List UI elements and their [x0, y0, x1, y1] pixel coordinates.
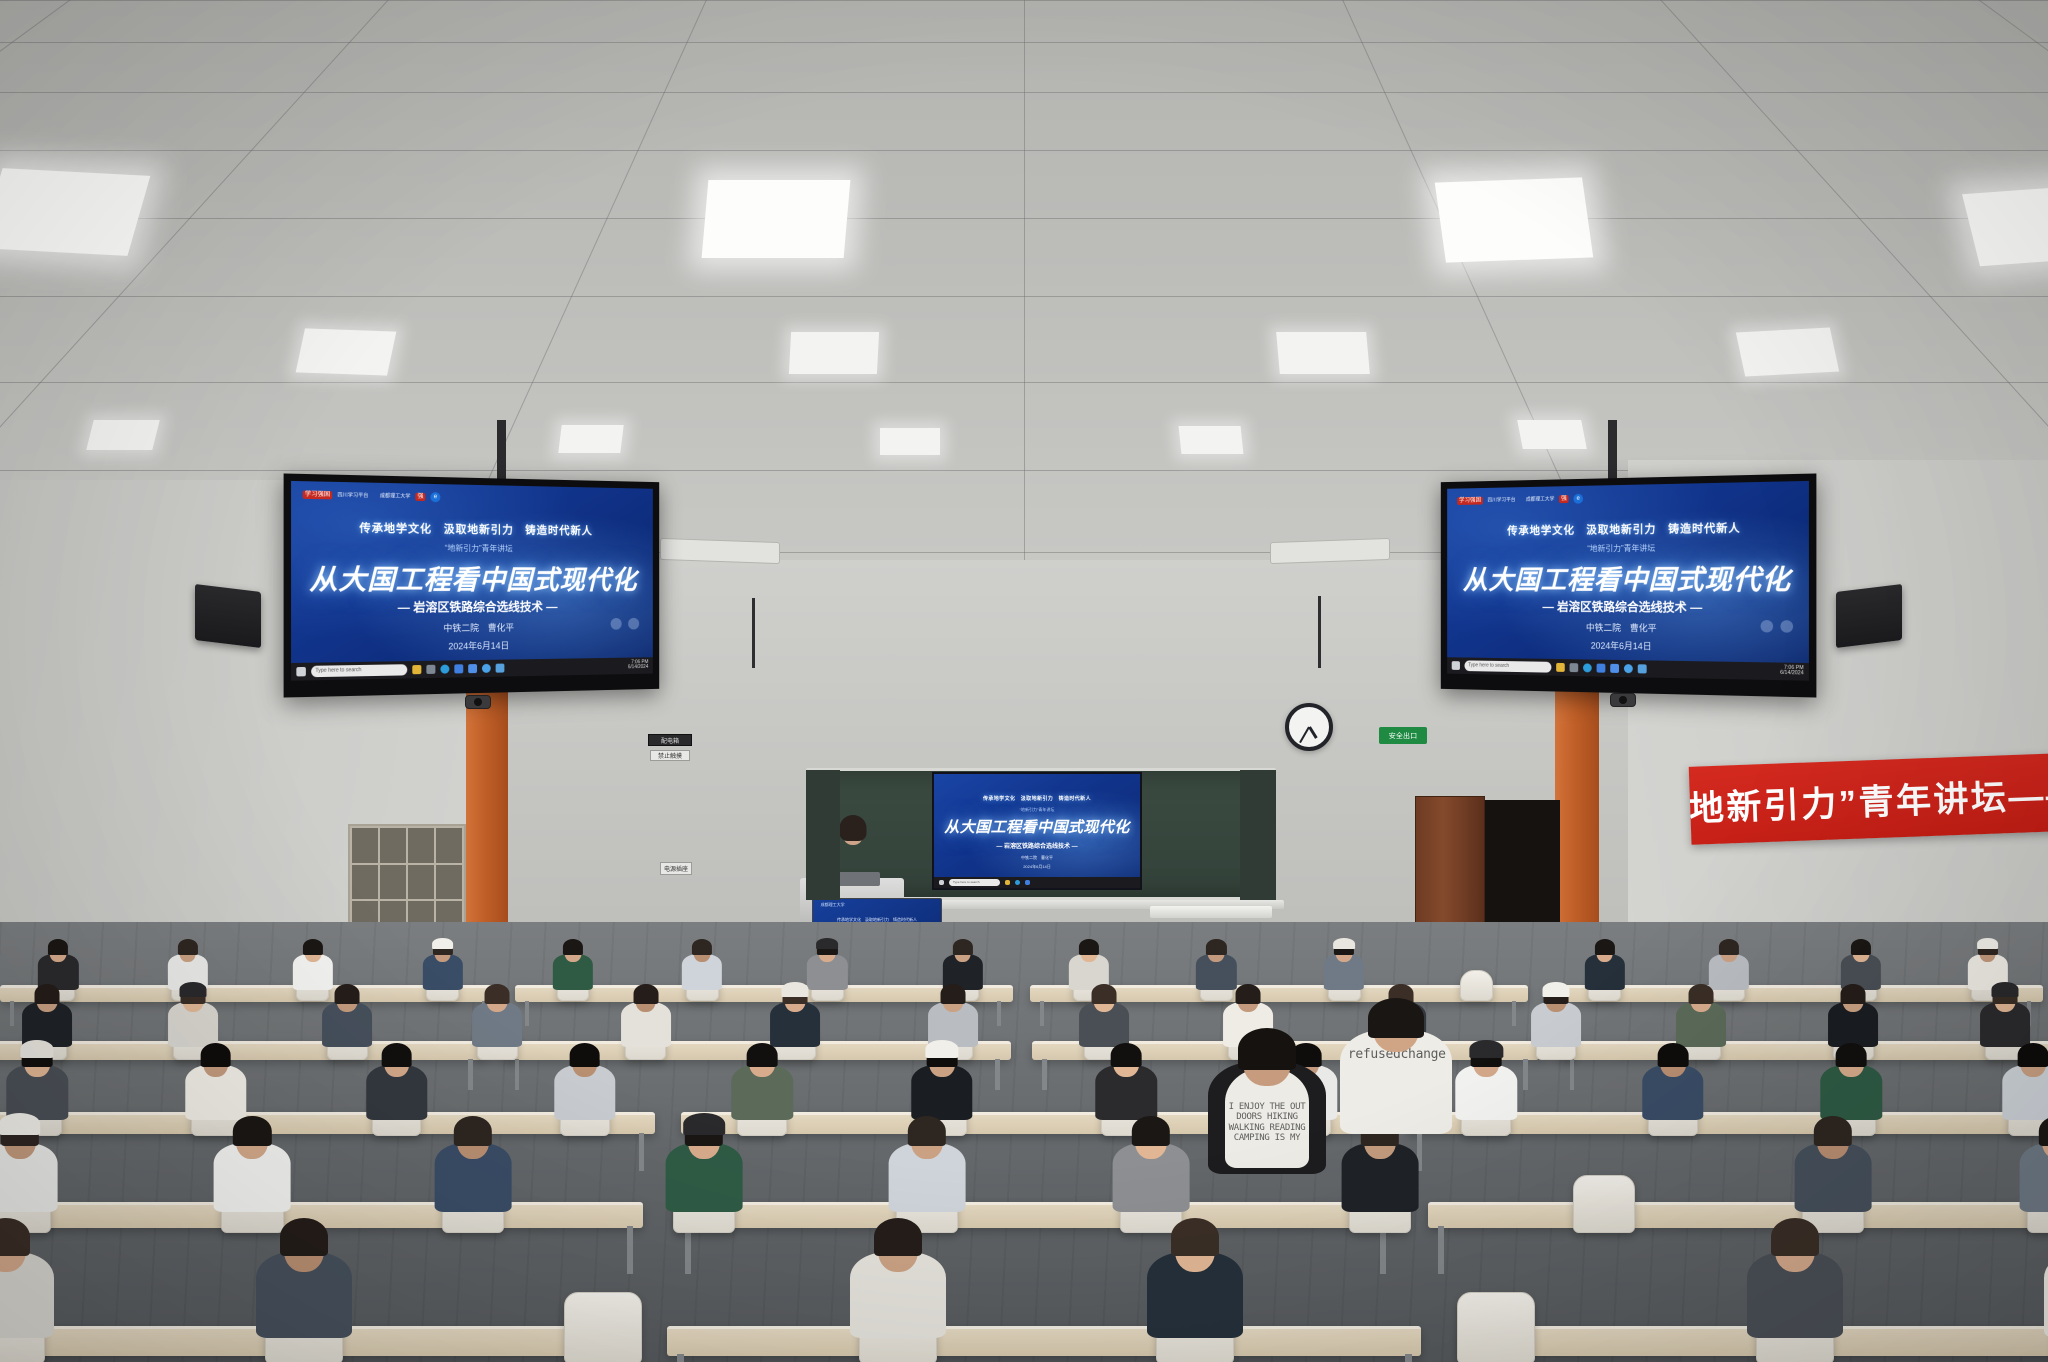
- student-torso: [2044, 1252, 2048, 1338]
- audience-student-graphic-tee: refusedchange: [1340, 1000, 1452, 1140]
- ceiling-light-panel: [1435, 177, 1594, 262]
- slide-forum-name: “地新引力”青年讲坛: [934, 807, 1140, 813]
- windows-start-icon[interactable]: [296, 667, 306, 677]
- cubby-cell: [380, 828, 406, 863]
- student-hair: [303, 939, 323, 955]
- app-icon-mail[interactable]: [1624, 664, 1633, 673]
- student-hair: [563, 939, 583, 955]
- student-hair: [233, 1116, 271, 1146]
- app-icon-explorer[interactable]: [1556, 663, 1565, 672]
- wall-notice-board: [806, 770, 840, 900]
- student-hair: [1719, 939, 1739, 955]
- slide-date: 2024年6月14日: [934, 864, 1140, 870]
- ceiling-light-panel: [1736, 328, 1839, 377]
- desk-leg: [1040, 1001, 1044, 1026]
- baseball-cap-icon: [925, 1040, 958, 1058]
- hanging-microphone: [752, 598, 755, 668]
- app-badge-red: 强: [1559, 495, 1569, 503]
- red-event-banner: “地新引力”青年讲坛——: [1689, 753, 2048, 845]
- audience-student: [621, 981, 671, 1052]
- whiteboard-tray: [1150, 906, 1272, 918]
- xuexi-qiangguo-logo: 学习强国: [303, 490, 332, 499]
- ceiling-grid-line: [0, 150, 2048, 151]
- student-hair: [2039, 1116, 2048, 1146]
- student-hair: [1771, 1218, 1819, 1256]
- student-desk: [1560, 1041, 2048, 1060]
- student-hair: [1368, 998, 1424, 1038]
- baseball-cap-icon: [0, 1113, 40, 1135]
- desk-leg: [515, 1059, 520, 1090]
- ceiling-light-panel: [1276, 332, 1370, 374]
- taskbar-clock[interactable]: 7:06 PM 6/14/2024: [1780, 666, 1803, 678]
- desk-leg: [1405, 1354, 1412, 1362]
- slide-logo-bar: 学习强国 四川学习平台 成都理工大学 强 e: [303, 489, 643, 505]
- right-tv-screen: 学习强国 四川学习平台 成都理工大学 强 e 传承地学文化 汲取地新引力 铸造时…: [1447, 481, 1809, 681]
- student-hair: [1836, 1043, 1867, 1067]
- audience-student: [1456, 1039, 1517, 1126]
- baseball-cap-icon: [1333, 938, 1355, 950]
- student-hair: [908, 1116, 946, 1146]
- student-hair: [747, 1043, 778, 1067]
- student-hair: [1171, 1218, 1219, 1256]
- tee-printed-text: I ENJOY THE OUT DOORS HIKING WALKING REA…: [1216, 1102, 1317, 1143]
- app-icon-taskview[interactable]: [426, 665, 435, 674]
- student-hair: [0, 1218, 30, 1256]
- student-hair: [34, 984, 59, 1004]
- ceiling-grid-line: [1024, 0, 1025, 620]
- taskbar-search-box[interactable]: Type here to search: [311, 664, 407, 677]
- audience-student: [666, 1111, 743, 1220]
- ceiling-light-panel: [558, 425, 623, 453]
- taskbar-search-box[interactable]: Type here to search: [1465, 660, 1552, 672]
- student-hair: [1595, 939, 1615, 955]
- student-hair: [1092, 984, 1117, 1004]
- app-icon-wechat[interactable]: [1025, 880, 1030, 885]
- presenter-hair: [840, 815, 867, 841]
- desk-leg: [1380, 1226, 1386, 1274]
- student-hair: [1658, 1043, 1689, 1067]
- audience-student: [1112, 1111, 1189, 1220]
- student-hair: [633, 984, 658, 1004]
- audience-student: [1324, 937, 1364, 994]
- desk-leg: [1438, 1226, 1444, 1274]
- student-hair: [48, 939, 68, 955]
- ceiling-grid-line: [0, 382, 2048, 383]
- audience-student: [0, 1111, 58, 1220]
- windows-start-icon[interactable]: [1452, 661, 1460, 670]
- lecture-hall-photo: 学习强国 四川学习平台 成都理工大学 强 e 传承地学文化 汲取地新引力 铸造时…: [0, 0, 2048, 1362]
- ceiling-grid-line: [0, 0, 2048, 1]
- student-chair: [1457, 1292, 1535, 1362]
- app-icon-edge[interactable]: [1583, 663, 1592, 672]
- sichuan-platform-label: 四川学习平台: [1488, 496, 1516, 503]
- baseball-cap-icon: [1992, 982, 2019, 996]
- taskbar-search-box[interactable]: Type here to search: [949, 879, 1000, 886]
- audience-student: [435, 1111, 512, 1220]
- audience-student: [322, 981, 372, 1052]
- wall-notice-board: [1240, 770, 1276, 900]
- baseball-cap-icon: [1543, 982, 1570, 996]
- slide-tagline: 传承地学文化 汲取地新引力 铸造时代新人: [934, 795, 1140, 802]
- audience-student: [1531, 981, 1581, 1052]
- audience-student: [554, 1039, 615, 1126]
- app-icon-explorer[interactable]: [1005, 880, 1010, 885]
- audience-student: [472, 981, 522, 1052]
- audience-student: [366, 1039, 427, 1126]
- app-icon-powerpoint[interactable]: [496, 663, 505, 672]
- right-wall-tv[interactable]: 学习强国 四川学习平台 成都理工大学 强 e 传承地学文化 汲取地新引力 铸造时…: [1441, 473, 1817, 697]
- slide-author: 中铁二院 曹化平: [934, 855, 1140, 861]
- baseball-cap-icon: [180, 982, 207, 996]
- windows-taskbar[interactable]: Type here to search 7:06 PM 6/14/2024: [291, 657, 653, 681]
- baseball-cap-icon: [21, 1040, 54, 1058]
- hanging-microphone: [1318, 596, 1321, 668]
- air-conditioning-vent: [660, 538, 780, 564]
- student-hair: [178, 939, 198, 955]
- ceiling-light-panel: [880, 428, 940, 455]
- university-crest-logo: 成都理工大学: [380, 492, 411, 500]
- baseball-cap-icon: [683, 1113, 725, 1135]
- wall-loudspeaker-left: [195, 584, 261, 648]
- taskbar-date: 6/14/2024: [1780, 670, 1803, 677]
- cubby-cell: [352, 828, 378, 863]
- student-hair: [1111, 1043, 1142, 1067]
- student-hair: [692, 939, 712, 955]
- desk-leg: [1042, 1059, 1047, 1090]
- slide-author: 中铁二院 曹化平: [291, 620, 653, 636]
- cubby-cell: [436, 828, 462, 863]
- app-icon-explorer[interactable]: [412, 665, 421, 674]
- podium-monitor-logo-row: 成都理工大学: [821, 902, 845, 908]
- audience-student: [1747, 1212, 1843, 1348]
- student-hair: [280, 1218, 328, 1256]
- ceiling-light-panel: [789, 332, 879, 374]
- baseball-cap-icon: [782, 982, 809, 996]
- student-chair: [1573, 1175, 1635, 1233]
- ceiling-grid-line: [0, 218, 2048, 219]
- left-wall-tv[interactable]: 学习强国 四川学习平台 成都理工大学 强 e 传承地学文化 汲取地新引力 铸造时…: [284, 473, 660, 697]
- app-icon-taskview[interactable]: [1570, 663, 1579, 672]
- university-crest-logo: 成都理工大学: [1526, 495, 1554, 502]
- audience-student: [2044, 1212, 2048, 1348]
- student-hair: [1236, 984, 1261, 1004]
- audience-student: [1795, 1111, 1872, 1220]
- slide-author: 中铁二院 曹化平: [1447, 620, 1809, 636]
- desk-leg: [627, 1226, 633, 1274]
- ceiling-light-panel: [86, 420, 159, 450]
- windows-taskbar[interactable]: Type here to search: [934, 877, 1140, 888]
- warning-sign: 禁止触摸: [650, 750, 690, 761]
- ceiling-grid-line: [0, 0, 425, 523]
- app-icon-files[interactable]: [468, 664, 477, 673]
- audience-student-graphic-tee: I ENJOY THE OUT DOORS HIKING WALKING REA…: [1208, 1028, 1326, 1178]
- ceiling-grid-line: [0, 92, 2048, 93]
- audience-student: [553, 937, 593, 994]
- taskbar-date: 6/14/2024: [628, 664, 648, 670]
- desk-leg: [685, 1226, 691, 1274]
- ceiling-light-panel: [702, 180, 851, 258]
- baseball-cap-icon: [817, 938, 839, 950]
- audience-student: [888, 1111, 965, 1220]
- student-desk: [667, 1326, 1420, 1356]
- slide-tagline: 传承地学文化 汲取地新引力 铸造时代新人: [291, 519, 653, 539]
- student-hair: [953, 939, 973, 955]
- left-tv-camera-icon: [465, 695, 491, 709]
- audience-student: [256, 1212, 352, 1348]
- app-icon-files[interactable]: [1610, 664, 1619, 673]
- ceiling-grid-line: [0, 42, 2048, 43]
- electrical-panel-sign: 配电箱: [648, 734, 692, 746]
- student-hair: [569, 1043, 600, 1067]
- sichuan-platform-label: 四川学习平台: [337, 491, 368, 499]
- audience-student: [214, 1111, 291, 1220]
- student-hair: [1688, 984, 1713, 1004]
- student-chair: [564, 1292, 642, 1362]
- cubby-cell: [352, 865, 378, 900]
- desk-leg: [10, 1001, 14, 1026]
- wall-clock: [1285, 703, 1333, 751]
- student-hair: [454, 1116, 492, 1146]
- slide-corner-icons: [1761, 620, 1794, 633]
- student-hair: [1814, 1116, 1852, 1146]
- desk-leg: [677, 1354, 684, 1362]
- audience-student: [682, 937, 722, 994]
- desk-leg: [997, 1001, 1001, 1026]
- student-chair: [1460, 970, 1493, 1000]
- air-conditioning-vent: [1270, 538, 1390, 564]
- student-desk: [675, 1202, 1396, 1228]
- desk-leg: [995, 1059, 1000, 1090]
- student-hair: [1206, 939, 1226, 955]
- audience-student: [2020, 1111, 2048, 1220]
- ceiling-grid-line: [0, 296, 2048, 297]
- student-hair: [335, 984, 360, 1004]
- slide-main-title: 从大国工程看中国式现代化: [1447, 557, 1809, 598]
- app-badge-blue: e: [1573, 493, 1583, 503]
- baseball-cap-icon: [1977, 938, 1999, 950]
- windows-start-icon[interactable]: [939, 880, 944, 885]
- student-hair: [485, 984, 510, 1004]
- slide-logo-bar: 学习强国 四川学习平台 成都理工大学 强 e: [1457, 489, 1797, 505]
- app-icon-wechat[interactable]: [454, 664, 463, 673]
- emergency-exit-sign: 安全出口: [1379, 727, 1427, 744]
- slide-tagline: 传承地学文化 汲取地新引力 铸造时代新人: [1447, 519, 1809, 539]
- slide-corner-icons: [611, 618, 640, 630]
- student-hair: [1079, 939, 1099, 955]
- slide-forum-name: “地新引力”青年讲坛: [291, 541, 653, 555]
- desk-leg: [1512, 1001, 1516, 1026]
- ceiling-light-panel: [296, 328, 397, 375]
- student-hair: [874, 1218, 922, 1256]
- cubby-cell: [408, 865, 434, 900]
- app-icon-edge[interactable]: [440, 664, 449, 673]
- slide-date: 2024年6月14日: [1447, 637, 1809, 655]
- audience-student: [422, 937, 462, 994]
- student-hair: [1132, 1116, 1170, 1146]
- app-icon-edge[interactable]: [1015, 880, 1020, 885]
- power-outlet[interactable]: 电源插座: [660, 862, 692, 875]
- wall-loudspeaker-right: [1836, 584, 1902, 648]
- ceiling-light-panel: [0, 168, 150, 256]
- cubby-cell: [436, 865, 462, 900]
- desk-leg: [468, 1059, 473, 1090]
- student-torso: [2020, 1143, 2048, 1212]
- cubby-cell: [380, 865, 406, 900]
- audience-student: [1642, 1039, 1703, 1126]
- student-hair: [2018, 1043, 2048, 1067]
- baseball-cap-icon: [432, 938, 454, 950]
- windows-taskbar[interactable]: Type here to search 7:06 PM 6/14/2024: [1447, 657, 1809, 681]
- student-hair: [1238, 1028, 1296, 1070]
- app-badge-blue: e: [430, 492, 440, 502]
- student-hair: [381, 1043, 412, 1067]
- app-icon-wechat[interactable]: [1597, 663, 1606, 672]
- slide-subtitle: — 岩溶区铁路综合选线技术 —: [934, 841, 1140, 850]
- audience-student: [850, 1212, 946, 1348]
- baseball-cap-icon: [1470, 1040, 1503, 1058]
- student-desk: [1428, 1202, 2048, 1228]
- desk-leg: [525, 1001, 529, 1026]
- desk-leg: [1570, 1059, 1575, 1090]
- app-icon-mail[interactable]: [482, 664, 491, 673]
- cubby-cell: [408, 828, 434, 863]
- xuexi-qiangguo-logo: 学习强国: [1457, 496, 1483, 504]
- ceiling-light-panel: [1517, 420, 1587, 449]
- right-tv-camera-icon: [1610, 693, 1636, 707]
- desk-leg: [639, 1133, 644, 1171]
- center-projection-screen[interactable]: 传承地学文化 汲取地新引力 铸造时代新人 “地新引力”青年讲坛 从大国工程看中国…: [932, 772, 1142, 890]
- student-hair: [200, 1043, 231, 1067]
- slide-subtitle: — 岩溶区铁路综合选线技术 —: [1447, 598, 1809, 617]
- student-hair: [1851, 939, 1871, 955]
- left-tv-screen: 学习强国 四川学习平台 成都理工大学 强 e 传承地学文化 汲取地新引力 铸造时…: [291, 481, 653, 681]
- slide-main-title: 从大国工程看中国式现代化: [291, 557, 653, 598]
- slide-subtitle: — 岩溶区铁路综合选线技术 —: [291, 598, 653, 617]
- student-hair: [941, 984, 966, 1004]
- audience-student: [1147, 1212, 1243, 1348]
- slide-main-title: 从大国工程看中国式现代化: [934, 816, 1140, 837]
- audience-student: [1584, 937, 1624, 994]
- app-icon-powerpoint[interactable]: [1638, 664, 1647, 673]
- app-badge-red: 强: [415, 492, 425, 500]
- slide-forum-name: “地新引力”青年讲坛: [1447, 541, 1809, 555]
- clock-minute-hand: [1299, 727, 1310, 744]
- audience-student: [0, 1212, 54, 1348]
- ceiling-light-panel: [1179, 426, 1244, 454]
- slide-date: 2024年6月14日: [291, 637, 653, 655]
- desk-leg: [1523, 1059, 1528, 1090]
- taskbar-clock[interactable]: 7:06 PM 6/14/2024: [628, 660, 648, 671]
- student-hair: [1841, 984, 1866, 1004]
